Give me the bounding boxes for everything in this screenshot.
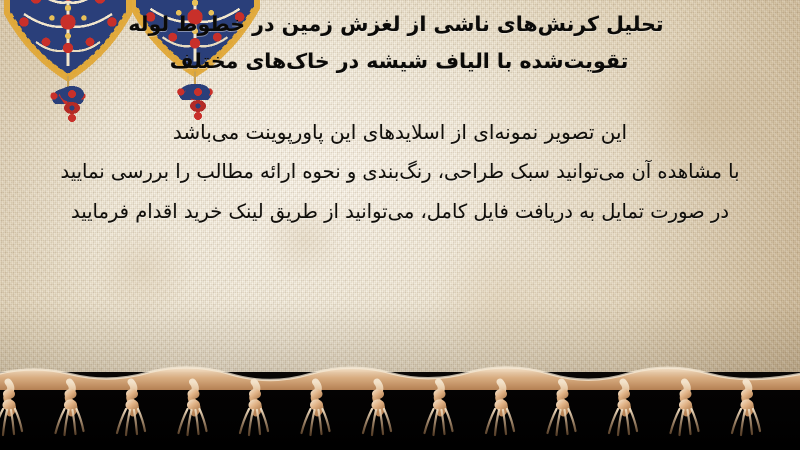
slide-title: تحلیل کرنش‌های ناشی از لغزش زمین در خطوط…	[23, 6, 775, 80]
slide-title-line-1: تحلیل کرنش‌های ناشی از لغزش زمین در خطوط…	[23, 6, 769, 43]
body-line-1: این تصویر نمونه‌ای از اسلایدهای این پاور…	[30, 112, 770, 152]
body-line-3: در صورت تمایل به دریافت فایل کامل، می‌تو…	[30, 192, 770, 232]
body-line-2: با مشاهده آن می‌توانید سبک طراحی، رنگ‌بن…	[30, 152, 770, 192]
slide-canvas: تحلیل کرنش‌های ناشی از لغزش زمین در خطوط…	[0, 0, 800, 450]
carpet-knotted-fringe	[0, 360, 800, 450]
text-layer: تحلیل کرنش‌های ناشی از لغزش زمین در خطوط…	[0, 0, 800, 386]
slide-title-line-2: تقویت‌شده با الیاف شیشه در خاک‌های مختلف	[23, 43, 775, 80]
slide-body-text: این تصویر نمونه‌ای از اسلایدهای این پاور…	[30, 112, 770, 232]
